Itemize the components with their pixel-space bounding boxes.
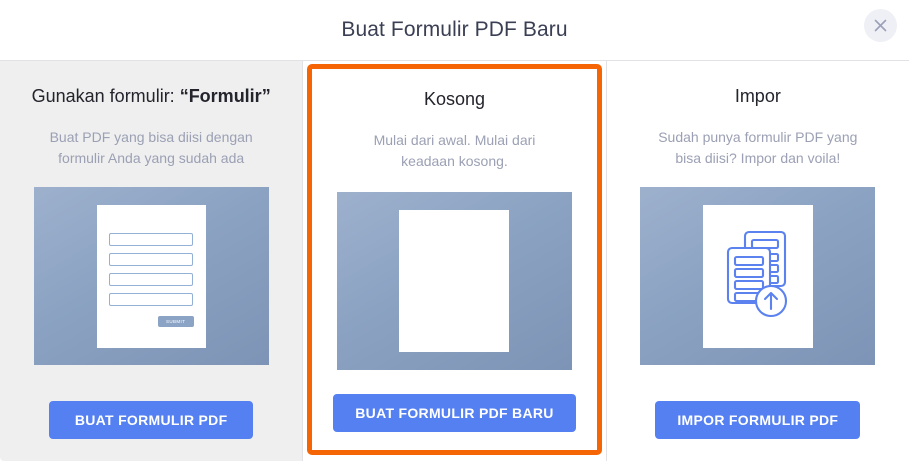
thumbnail-page: SUBMIT (97, 205, 206, 348)
panel-import-description: Sudah punya formulir PDF yang bisa diisi… (650, 127, 865, 169)
thumbnail-field-row (109, 253, 193, 266)
import-document-icon (715, 226, 801, 327)
panel-use-existing-form-description: Buat PDF yang bisa diisi dengan formulir… (44, 127, 259, 169)
create-pdf-form-button[interactable]: BUAT FORMULIR PDF (49, 401, 253, 439)
panel-import-inner: Impor Sudah punya formulir PDF yang bisa… (607, 61, 909, 461)
panel-blank-inner: Kosong Mulai dari awal. Mulai dari keada… (307, 64, 601, 455)
option-panels: Gunakan formulir: “Formulir” Buat PDF ya… (0, 60, 909, 461)
thumbnail-page (703, 205, 813, 348)
dialog-title: Buat Formulir PDF Baru (341, 18, 567, 42)
panel-use-existing-form-title: Gunakan formulir: “Formulir” (32, 85, 271, 107)
thumbnail-field-row (109, 233, 193, 246)
create-new-pdf-form-button[interactable]: BUAT FORMULIR PDF BARU (333, 394, 575, 432)
panel-blank-title: Kosong (424, 88, 485, 110)
panel-blank[interactable]: Kosong Mulai dari awal. Mulai dari keada… (302, 61, 605, 461)
thumbnail-field-row (109, 273, 193, 286)
blank-page-thumbnail (337, 192, 572, 370)
create-pdf-form-dialog: Buat Formulir PDF Baru Gunakan formulir:… (0, 0, 909, 461)
panel-blank-description: Mulai dari awal. Mulai dari keadaan koso… (347, 130, 562, 172)
import-pdf-form-button[interactable]: IMPOR FORMULIR PDF (655, 401, 860, 439)
panel-use-existing-form-inner: Gunakan formulir: “Formulir” Buat PDF ya… (0, 61, 302, 461)
close-button[interactable] (864, 9, 897, 42)
thumbnail-field-row (109, 293, 193, 306)
close-icon (873, 18, 888, 33)
dialog-header: Buat Formulir PDF Baru (0, 0, 909, 60)
panel-import-title: Impor (735, 85, 781, 107)
panel-import[interactable]: Impor Sudah punya formulir PDF yang bisa… (606, 61, 909, 461)
panel-title-strong: “Formulir” (180, 86, 271, 106)
panel-use-existing-form[interactable]: Gunakan formulir: “Formulir” Buat PDF ya… (0, 61, 302, 461)
import-document-thumbnail (640, 187, 875, 365)
panel-title-prefix: Gunakan formulir: (32, 86, 180, 106)
thumbnail-submit-chip: SUBMIT (158, 316, 194, 327)
form-preview-thumbnail: SUBMIT (34, 187, 269, 365)
thumbnail-page (399, 210, 509, 352)
